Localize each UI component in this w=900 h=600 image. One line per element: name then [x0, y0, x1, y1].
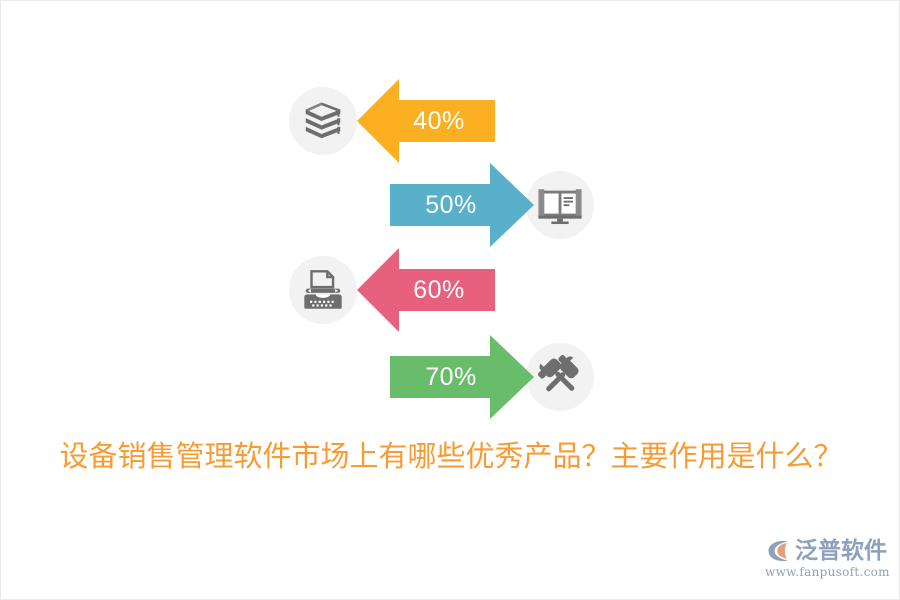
icon-circle-book-stack [289, 87, 357, 155]
infographic-row: 50% [1, 163, 900, 253]
logo-row: 泛普软件 [765, 535, 891, 567]
arrow-right-70 [390, 335, 534, 419]
fanpu-swoosh-icon [765, 537, 793, 565]
arrow-left-60 [357, 248, 495, 332]
open-book-icon [537, 182, 583, 228]
arrow-shape-left [357, 248, 495, 332]
arrow-shape-right [390, 163, 534, 247]
arrow-left-40 [357, 79, 495, 163]
arrow-shape-right [390, 335, 534, 419]
logo-watermark: 泛普软件 www.fanpusoft.com [765, 535, 891, 585]
infographic-row: 40% [1, 79, 900, 169]
typewriter-icon [300, 267, 346, 313]
icon-circle-open-book [526, 171, 594, 239]
book-stack-icon [300, 98, 346, 144]
arrow-right-50 [390, 163, 534, 247]
logo-text: 泛普软件 [795, 537, 887, 565]
crossed-hammers-icon [537, 354, 583, 400]
arrow-shape-left [357, 79, 495, 163]
logo-url: www.fanpusoft.com [765, 565, 891, 579]
icon-circle-typewriter [289, 256, 357, 324]
icon-circle-crossed-hammers [526, 343, 594, 411]
infographic-row: 60% [1, 248, 900, 338]
infographic-canvas: 40% [0, 0, 900, 600]
infographic-row: 70% [1, 335, 900, 425]
page-title: 设备销售管理软件市场上有哪些优秀产品？主要作用是什么？ [1, 433, 900, 479]
